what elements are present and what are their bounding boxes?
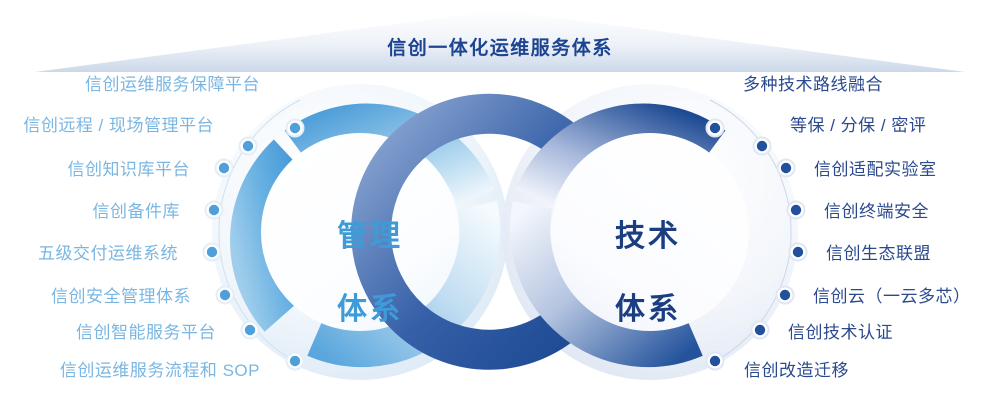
right-item-label-5[interactable]: 信创生态联盟 (826, 245, 931, 262)
right-item-label-8[interactable]: 信创改造迁移 (744, 362, 849, 379)
right-node-dot-2 (754, 138, 771, 155)
left-item-label-3[interactable]: 信创知识库平台 (68, 161, 191, 178)
left-item-label-7[interactable]: 信创智能服务平台 (76, 324, 216, 341)
right-hub-center-line2: 体系 (615, 293, 681, 326)
right-node-dot-1 (707, 120, 724, 137)
right-item-label-2[interactable]: 等保 / 分保 / 密评 (790, 117, 926, 134)
left-node-dot-8 (287, 353, 304, 370)
left-node-dot-5 (204, 244, 221, 261)
left-node-dot-3 (216, 160, 233, 177)
left-node-dot-4 (206, 202, 223, 219)
infographic-canvas: 信创一体化运维服务体系 管理 体系 技术 体系 信创运维服务保障平台 信创远程 … (0, 0, 1000, 408)
right-node-dot-5 (790, 244, 807, 261)
left-node-dot-7 (242, 322, 259, 339)
right-node-dot-7 (752, 322, 769, 339)
right-item-label-6[interactable]: 信创云（一云多芯） (813, 288, 971, 305)
right-node-dot-8 (707, 353, 724, 370)
right-item-label-3[interactable]: 信创适配实验室 (814, 161, 937, 178)
right-item-label-4[interactable]: 信创终端安全 (824, 203, 929, 220)
page-title: 信创一体化运维服务体系 (0, 33, 1000, 60)
right-node-dot-3 (778, 160, 795, 177)
left-item-label-1[interactable]: 信创运维服务保障平台 (85, 76, 260, 93)
left-item-label-4[interactable]: 信创备件库 (93, 203, 181, 220)
left-node-dot-6 (217, 287, 234, 304)
left-hub-center-label: 管理 体系 (300, 182, 440, 328)
right-hub-center-label: 技术 体系 (578, 182, 718, 328)
right-item-label-1[interactable]: 多种技术路线融合 (743, 76, 883, 93)
left-hub-center-line2: 体系 (337, 293, 403, 326)
right-item-label-7[interactable]: 信创技术认证 (788, 324, 893, 341)
left-item-label-6[interactable]: 信创安全管理体系 (51, 288, 191, 305)
right-hub-center-line1: 技术 (615, 220, 681, 253)
right-node-dot-6 (777, 287, 794, 304)
right-node-dot-4 (788, 202, 805, 219)
left-item-label-8[interactable]: 信创运维服务流程和 SOP (60, 362, 260, 379)
left-node-dot-1 (287, 120, 304, 137)
left-item-label-5[interactable]: 五级交付运维系统 (38, 245, 178, 262)
left-hub-center-line1: 管理 (337, 220, 403, 253)
left-item-label-2[interactable]: 信创远程 / 现场管理平台 (23, 117, 214, 134)
left-node-dot-2 (240, 138, 257, 155)
